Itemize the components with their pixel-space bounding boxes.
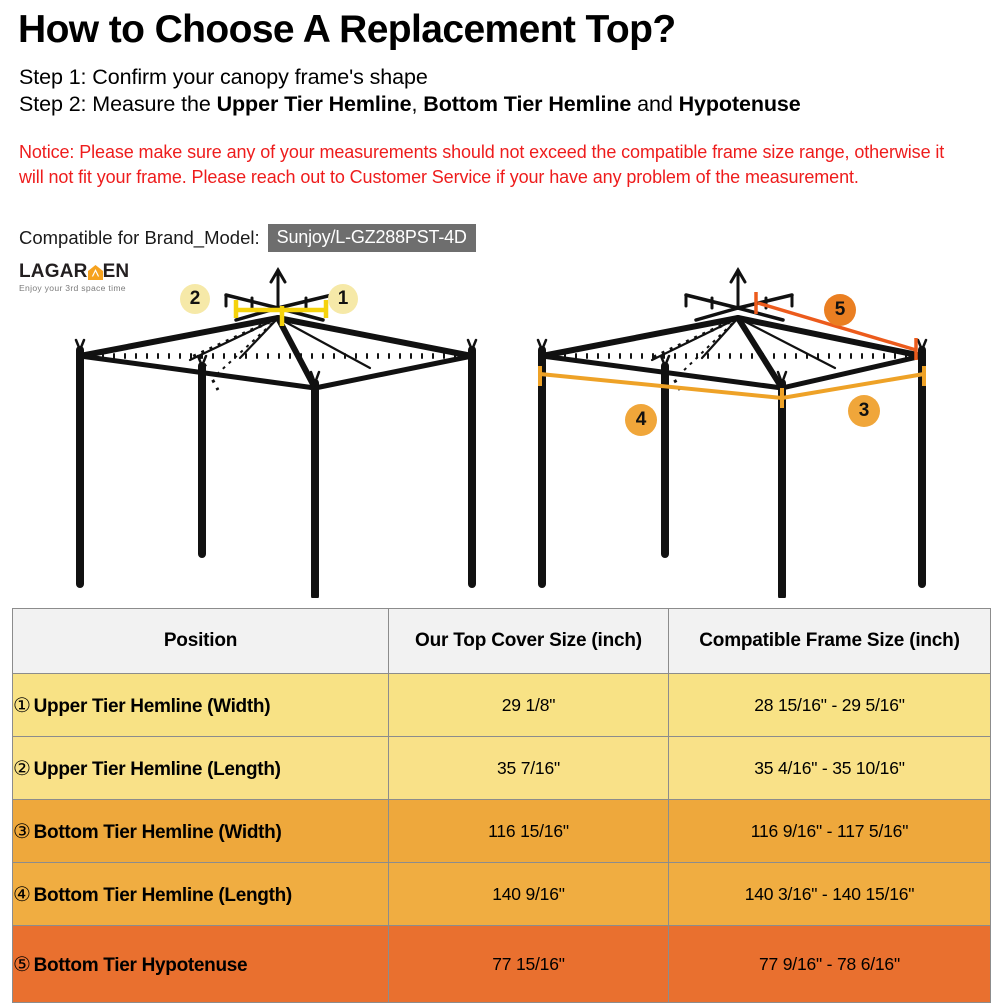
row-3-position: ③Bottom Tier Hemline (Width) [13,800,389,863]
badge-2: 2 [180,284,210,314]
row-5-frame-size: 77 9/16" - 78 6/16" [669,926,991,1003]
row-3-number: ③ [13,821,31,843]
page-title: How to Choose A Replacement Top? [18,10,676,51]
column-header-our-top-cover-size: Our Top Cover Size (inch) [389,609,669,674]
row-3-our-size: 116 15/16" [389,800,669,863]
table-row: ④Bottom Tier Hemline (Length) 140 9/16" … [13,863,991,926]
table-row: ②Upper Tier Hemline (Length) 35 7/16" 35… [13,737,991,800]
column-header-compatible-frame-size: Compatible Frame Size (inch) [669,609,991,674]
step-2-prefix: Step 2: Measure the [19,92,217,116]
table-header-row: Position Our Top Cover Size (inch) Compa… [13,609,991,674]
row-5-position: ⑤Bottom Tier Hypotenuse [13,926,389,1003]
upper-tier-diagram [40,258,490,598]
badge-1: 1 [328,284,358,314]
badge-3: 3 [848,395,880,427]
step-2-sep-1: , [412,92,424,116]
badge-4: 4 [625,404,657,436]
row-5-our-size: 77 15/16" [389,926,669,1003]
row-2-position-label: Upper Tier Hemline (Length) [34,759,281,780]
row-3-position-label: Bottom Tier Hemline (Width) [34,822,282,843]
bottom-tier-gazebo-drawing [510,258,980,598]
row-4-position-label: Bottom Tier Hemline (Length) [34,885,292,906]
step-2-bold-upper-tier-hemline: Upper Tier Hemline [217,92,412,116]
step-2-text: Step 2: Measure the Upper Tier Hemline, … [19,91,984,118]
row-1-frame-size: 28 15/16" - 29 5/16" [669,674,991,737]
row-4-our-size: 140 9/16" [389,863,669,926]
row-1-position: ①Upper Tier Hemline (Width) [13,674,389,737]
upper-tier-gazebo-drawing [40,258,490,598]
row-4-position: ④Bottom Tier Hemline (Length) [13,863,389,926]
measurement-table: Position Our Top Cover Size (inch) Compa… [12,608,991,1003]
diagram-area: 2 1 5 4 3 [0,258,1000,598]
table-row: ①Upper Tier Hemline (Width) 29 1/8" 28 1… [13,674,991,737]
row-2-frame-size: 35 4/16" - 35 10/16" [669,737,991,800]
row-5-number: ⑤ [13,954,31,976]
table-row: ③Bottom Tier Hemline (Width) 116 15/16" … [13,800,991,863]
row-4-frame-size: 140 3/16" - 140 15/16" [669,863,991,926]
notice-text: Notice: Please make sure any of your mea… [19,140,964,189]
row-4-number: ④ [13,884,31,906]
row-3-frame-size: 116 9/16" - 117 5/16" [669,800,991,863]
row-5-position-label: Bottom Tier Hypotenuse [34,955,248,976]
row-2-position: ②Upper Tier Hemline (Length) [13,737,389,800]
replacement-top-guide-page: How to Choose A Replacement Top? Step 1:… [0,0,1000,1000]
bottom-tier-diagram [510,258,980,598]
badge-5: 5 [824,294,856,326]
step-2-bold-hypotenuse: Hypotenuse [679,92,801,116]
compatible-label: Compatible for Brand_Model: [19,227,260,249]
row-2-our-size: 35 7/16" [389,737,669,800]
steps-block: Step 1: Confirm your canopy frame's shap… [19,64,984,118]
compatible-model-row: Compatible for Brand_Model: Sunjoy/L-GZ2… [19,224,476,252]
compatible-model-badge: Sunjoy/L-GZ288PST-4D [268,224,476,252]
step-2-bold-bottom-tier-hemline: Bottom Tier Hemline [423,92,631,116]
step-2-sep-2: and [631,92,678,116]
row-2-number: ② [13,758,31,780]
row-1-our-size: 29 1/8" [389,674,669,737]
column-header-position: Position [13,609,389,674]
table-row: ⑤Bottom Tier Hypotenuse 77 15/16" 77 9/1… [13,926,991,1003]
row-1-position-label: Upper Tier Hemline (Width) [34,696,271,717]
row-1-number: ① [13,695,31,717]
step-1-text: Step 1: Confirm your canopy frame's shap… [19,64,984,91]
